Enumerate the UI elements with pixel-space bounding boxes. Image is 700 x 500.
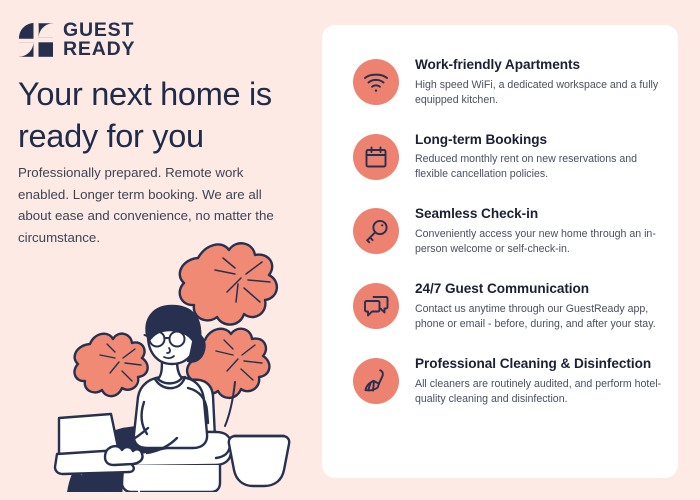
features-card: Work-friendly Apartments High speed WiFi… — [322, 25, 678, 478]
guestready-logo-mark-icon — [18, 22, 54, 58]
calendar-icon — [353, 134, 399, 180]
feature-description: High speed WiFi, a dedicated workspace a… — [415, 78, 663, 108]
brand-logo[interactable]: GUEST READY — [18, 21, 135, 59]
feature-description: All cleaners are routinely audited, and … — [415, 377, 663, 407]
list-item[interactable]: Long-term Bookings Reduced monthly rent … — [353, 128, 666, 183]
feature-description: Conveniently access your new home throug… — [415, 227, 663, 257]
list-item[interactable]: 24/7 Guest Communication Contact us anyt… — [353, 277, 666, 332]
wifi-icon — [353, 59, 399, 105]
feature-text: Long-term Bookings Reduced monthly rent … — [399, 128, 663, 183]
feature-title: Long-term Bookings — [415, 131, 663, 149]
feature-title: Professional Cleaning & Disinfection — [415, 355, 663, 373]
promo-page: GUEST READY Your next home is ready for … — [0, 0, 700, 500]
woman-with-laptop-and-plants-illustration — [22, 222, 322, 492]
list-item[interactable]: Work-friendly Apartments High speed WiFi… — [353, 53, 666, 108]
list-item[interactable]: Professional Cleaning & Disinfection All… — [353, 352, 666, 407]
chat-bubbles-icon — [353, 283, 399, 329]
feature-title: 24/7 Guest Communication — [415, 280, 663, 298]
brand-wordmark: GUEST READY — [63, 21, 135, 59]
left-column: GUEST READY Your next home is ready for … — [0, 0, 322, 500]
feature-description: Reduced monthly rent on new reservations… — [415, 152, 663, 182]
broom-icon — [353, 358, 399, 404]
feature-text: Work-friendly Apartments High speed WiFi… — [399, 53, 663, 108]
feature-description: Contact us anytime through our GuestRead… — [415, 302, 663, 332]
feature-text: Professional Cleaning & Disinfection All… — [399, 352, 663, 407]
feature-text: 24/7 Guest Communication Contact us anyt… — [399, 277, 663, 332]
page-headline: Your next home is ready for you — [18, 74, 310, 157]
features-list: Work-friendly Apartments High speed WiFi… — [353, 53, 666, 407]
feature-title: Work-friendly Apartments — [415, 56, 663, 74]
feature-title: Seamless Check-in — [415, 205, 663, 223]
brand-name-line2: READY — [63, 40, 135, 59]
list-item[interactable]: Seamless Check-in Conveniently access yo… — [353, 202, 666, 257]
key-icon — [353, 208, 399, 254]
feature-text: Seamless Check-in Conveniently access yo… — [399, 202, 663, 257]
